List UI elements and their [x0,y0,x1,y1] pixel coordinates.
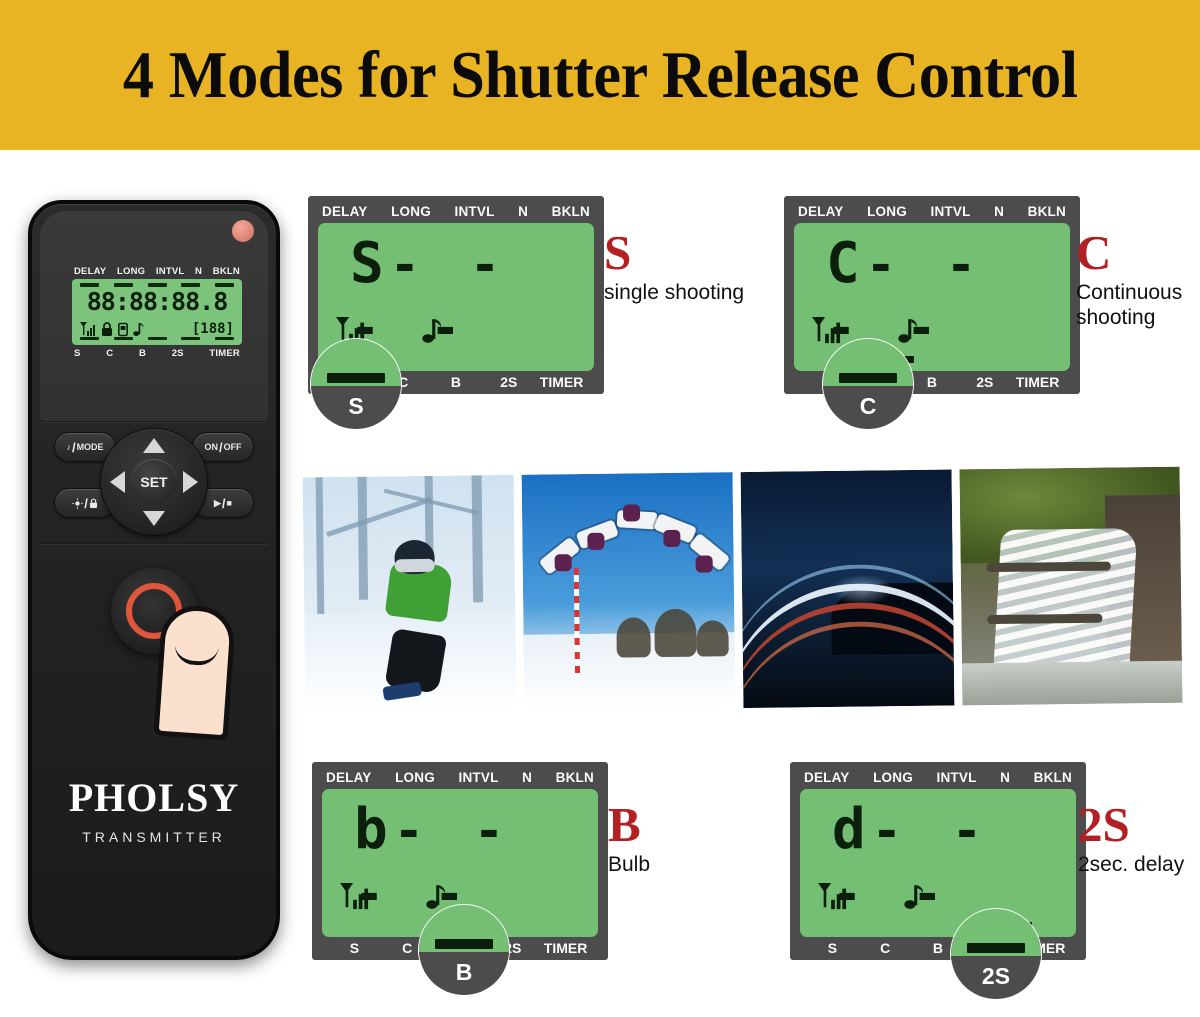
label-long: LONG [391,204,431,219]
label-mode-2s: 2S [172,348,184,359]
lock-icon [101,322,113,337]
label-intvl: INTVL [931,204,971,219]
shutter-zone [40,544,268,724]
remote-control-device: DELAY LONG INTVL N BKLN 88:88:88.8 [28,200,280,960]
label-mode-c: C [106,348,113,359]
battery-icon [118,322,128,337]
magnifier-letter: B [456,959,473,986]
photo-waterfall-art [960,467,1183,706]
label-bkln: BKLN [1028,204,1066,219]
label-delay: DELAY [322,204,368,219]
brand-block: PHOLSY TRANSMITTER [32,774,276,845]
device-lcd-counter: [188] [192,321,234,337]
slash-divider: / [222,496,226,511]
caption-c: C Continuous shooting [1076,228,1200,330]
caption-s: S single shooting [604,228,744,305]
magnifier-2s: 2S [950,908,1042,1000]
beep-note-icon [422,317,442,345]
panel-b-top-labels: DELAY LONG INTVL N BKLN [322,770,598,789]
left-arrow-icon[interactable] [110,471,125,493]
play-icon: ▶ [214,498,221,509]
label-delay: DELAY [326,770,372,785]
label-long: LONG [873,770,913,785]
photo-snowboard-burst [520,470,738,713]
label-mode-c: C [859,940,912,956]
label-mode-s: S [74,348,81,359]
right-arrow-icon[interactable] [183,471,198,493]
caption-b-text: Bulb [608,852,650,877]
caption-2s: 2S 2sec. delay [1078,800,1196,877]
page-title: 4 Modes for Shutter Release Control [123,37,1078,114]
set-button[interactable]: SET [131,459,177,505]
panel-c-top-labels: DELAY LONG INTVL N BKLN [794,204,1070,223]
magnifier-s: S [310,338,402,430]
up-arrow-icon[interactable] [143,438,165,453]
device-lcd-screen: 88:88:88.8 [72,279,242,345]
caption-c-letter: C [1076,228,1200,278]
label-n: N [522,770,532,785]
label-intvl: INTVL [937,770,977,785]
label-mode-s: S [806,940,859,956]
signal-bars-icon [818,883,848,911]
caption-2s-letter: 2S [1078,800,1196,850]
panel-b-mode-glyph: b [354,797,394,862]
lcd-panel-2s: DELAY LONG INTVL N BKLN d- - - - S C B 2… [790,762,1086,960]
label-n: N [195,266,202,277]
photo-snowboard-art [522,472,736,711]
label-bkln: BKLN [1034,770,1072,785]
label-mode-timer: TIMER [535,374,588,390]
signal-bars-icon [80,322,96,337]
label-mode-timer: TIMER [209,348,240,359]
label-bkln: BKLN [556,770,594,785]
device-lcd: DELAY LONG INTVL N BKLN 88:88:88.8 [72,266,242,359]
label-long: LONG [117,266,145,277]
power-off-label: OFF [224,442,242,452]
photo-light-trails [739,467,957,710]
label-n: N [518,204,528,219]
dpad[interactable]: SET [100,428,208,536]
lock-icon [89,498,98,509]
slash-divider: / [72,440,76,455]
brand-subtitle: TRANSMITTER [32,829,276,845]
ir-led-indicator-icon [232,220,254,242]
panel-c-mode-glyph: C [826,231,866,296]
sun-icon [72,498,83,509]
caption-s-letter: S [604,228,744,278]
magnifier-letter: C [860,393,877,420]
label-mode-b: B [139,348,146,359]
label-mode-2s: 2S [958,374,1011,390]
label-mode-timer: TIMER [539,940,592,956]
device-lcd-top-labels: DELAY LONG INTVL N BKLN [72,266,242,277]
magnifier-selected-bar [967,943,1025,953]
panel-2s-top-labels: DELAY LONG INTVL N BKLN [800,770,1076,789]
device-lcd-bottom-labels: S C B 2S TIMER [72,348,242,359]
photo-skier [301,473,519,716]
caption-c-text: Continuous shooting [1076,280,1200,330]
label-bkln: BKLN [552,204,590,219]
label-delay: DELAY [74,266,106,277]
label-long: LONG [395,770,435,785]
panel-2s-mode-glyph: d [832,797,872,862]
magnifier-c: C [822,338,914,430]
label-mode-2s: 2S [482,374,535,390]
label-mode-timer: TIMER [1011,374,1064,390]
stop-icon: ■ [227,498,232,508]
mode-button-label: MODE [77,442,104,452]
panel-s-top-labels: DELAY LONG INTVL N BKLN [318,204,594,223]
magnifier-b: B [418,904,510,996]
caption-b: B Bulb [608,800,650,877]
label-intvl: INTVL [455,204,495,219]
magnifier-selected-bar [327,373,385,383]
down-arrow-icon[interactable] [143,511,165,526]
photo-waterfall [958,465,1185,708]
label-intvl: INTVL [459,770,499,785]
magnifier-selected-bar [839,373,897,383]
label-mode-s: S [328,940,381,956]
magnifier-selected-bar [435,939,493,949]
device-lcd-bottom-segment-bars [78,337,236,341]
header-banner: 4 Modes for Shutter Release Control [0,0,1200,150]
magnifier-letter: S [348,393,363,420]
panel-2s-icon-row [818,883,924,911]
beep-note-icon [133,322,144,337]
brand-name: PHOLSY [32,774,276,821]
caption-2s-text: 2sec. delay [1078,852,1196,877]
photo-light-trails-art [741,469,955,708]
photo-strip [301,465,1194,716]
label-delay: DELAY [804,770,850,785]
signal-bars-icon [340,883,370,911]
label-n: N [1000,770,1010,785]
photo-skier-art [303,475,517,714]
label-delay: DELAY [798,204,844,219]
pointing-finger-icon [153,604,236,741]
label-n: N [994,204,1004,219]
label-long: LONG [867,204,907,219]
label-mode-b: B [430,374,483,390]
label-bkln: BKLN [213,266,240,277]
slash-divider: / [84,496,88,511]
panel-s-mode-glyph: S [350,231,390,296]
mode-button-note-icon: ♪ [66,442,71,452]
caption-s-text: single shooting [604,280,744,305]
button-cluster: ♪ / MODE ON / OFF / [40,422,268,542]
slash-divider: / [219,440,223,455]
magnifier-letter: 2S [982,963,1010,990]
caption-b-letter: B [608,800,650,850]
label-intvl: INTVL [156,266,184,277]
power-on-label: ON [204,442,218,452]
device-lcd-digits: 88:88:88.8 [78,287,236,317]
beep-note-icon [904,883,924,911]
device-lcd-icon-row: [188] [78,317,236,337]
